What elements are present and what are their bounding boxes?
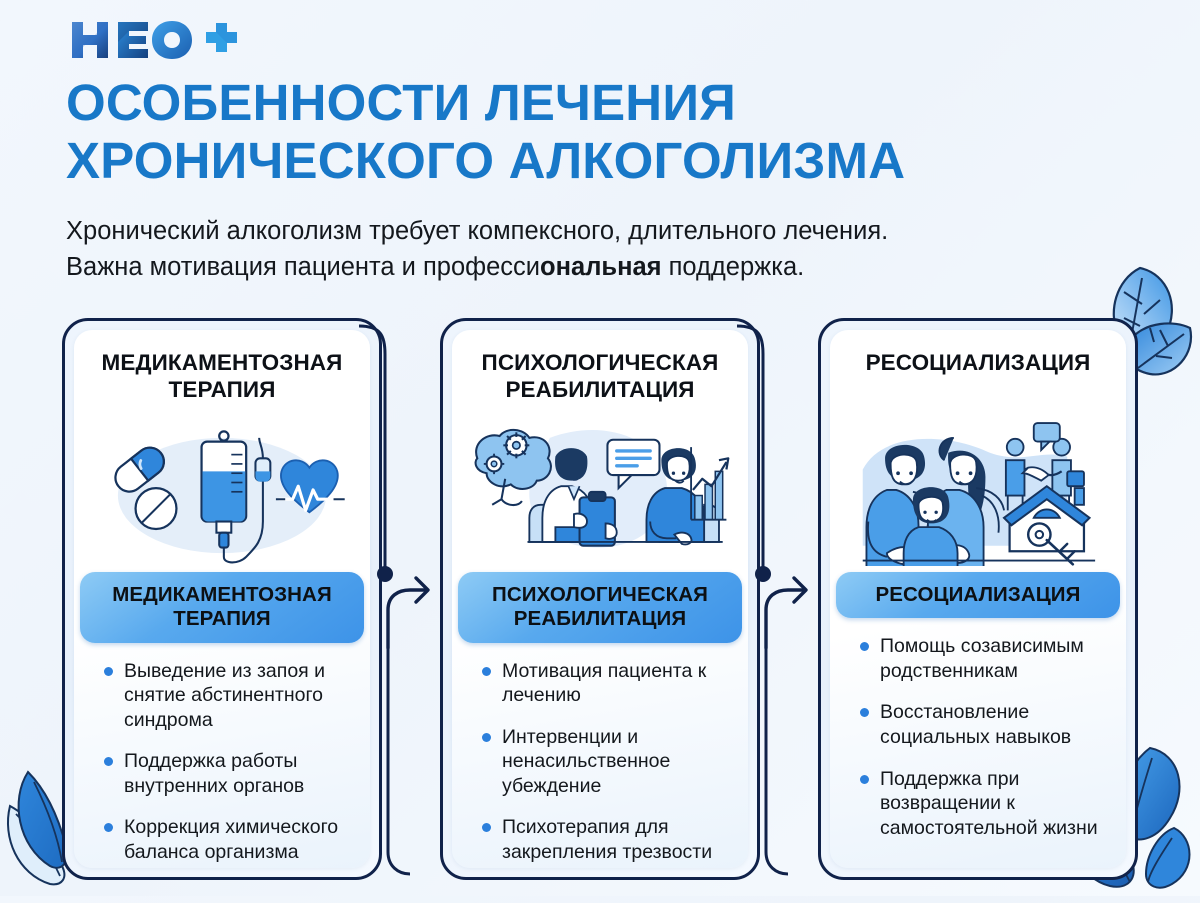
card-1-bullet-list: Выведение из запоя и снятие абстинентног…: [90, 659, 354, 882]
list-item: Коррекция химического баланса организма: [104, 815, 354, 864]
list-item: Помощь созависимым родственникам: [860, 634, 1110, 683]
pills-iv-heart-illustration: [90, 410, 354, 566]
page-title-line-2: ХРОНИЧЕСКОГО АЛКОГОЛИЗМА: [66, 132, 1146, 190]
arrow-card2-to-card3: [760, 318, 820, 880]
card-2-heading: ПСИХОЛОГИЧЕСКАЯ РЕАБИЛИТАЦИЯ: [468, 350, 732, 404]
list-item: Восстановление социальных навыков: [860, 700, 1110, 749]
subtitle-line-2-suffix: поддержка.: [662, 253, 805, 281]
brand-logo[interactable]: [68, 16, 238, 62]
card-1-badge[interactable]: МЕДИКАМЕНТОЗНАЯ ТЕРАПИЯ: [80, 572, 364, 642]
page-title-line-1: ОСОБЕННОСТИ ЛЕЧЕНИЯ: [66, 74, 736, 131]
card-3-bullet-list: Помощь созависимым родственникам Восстан…: [846, 634, 1110, 857]
family-handshake-house-key-illustration: [846, 410, 1110, 566]
arrow-card1-to-card2: [382, 318, 442, 880]
list-item: Выведение из запоя и снятие абстинентног…: [104, 659, 354, 733]
subtitle-line-2-bold: ональная: [540, 253, 662, 281]
list-item: Поддержка при возвращении к самостоятель…: [860, 767, 1110, 841]
card-2-badge[interactable]: ПСИХОЛОГИЧЕСКАЯ РЕАБИЛИТАЦИЯ: [458, 572, 742, 642]
page-title: ОСОБЕННОСТИ ЛЕЧЕНИЯ ХРОНИЧЕСКОГО АЛКОГОЛ…: [66, 74, 1146, 189]
list-item: Психотерапия для закрепления трезвости: [482, 815, 732, 864]
card-2-bullet-list: Мотивация пациента к лечению Интервенции…: [468, 659, 732, 882]
card-3-badge[interactable]: РЕСОЦИАЛИЗАЦИЯ: [836, 572, 1120, 618]
brain-therapy-session-chart-illustration: [468, 410, 732, 566]
card-psychological-rehabilitation[interactable]: ПСИХОЛОГИЧЕСКАЯ РЕАБИЛИТАЦИЯ: [440, 318, 760, 880]
subtitle-line-1: Хронический алкоголизм требует компексно…: [66, 217, 888, 245]
page-subtitle: Хронический алкоголизм требует компексно…: [66, 213, 1126, 285]
list-item: Мотивация пациента к лечению: [482, 659, 732, 708]
treatment-stage-cards: МЕДИКАМЕНТОЗНАЯ ТЕРАПИЯ: [0, 318, 1200, 886]
card-medication-therapy[interactable]: МЕДИКАМЕНТОЗНАЯ ТЕРАПИЯ: [62, 318, 382, 880]
subtitle-line-2-prefix: Важна мотивация пациента и професси: [66, 253, 540, 281]
logo-neo-plus-icon: [68, 16, 238, 62]
list-item: Поддержка работы внутренних органов: [104, 749, 354, 798]
card-resocialization[interactable]: РЕСОЦИАЛИЗАЦИЯ: [818, 318, 1138, 880]
list-item: Интервенции и ненасильственное убеждение: [482, 725, 732, 799]
card-1-heading: МЕДИКАМЕНТОЗНАЯ ТЕРАПИЯ: [90, 350, 354, 404]
card-3-heading: РЕСОЦИАЛИЗАЦИЯ: [866, 350, 1091, 404]
